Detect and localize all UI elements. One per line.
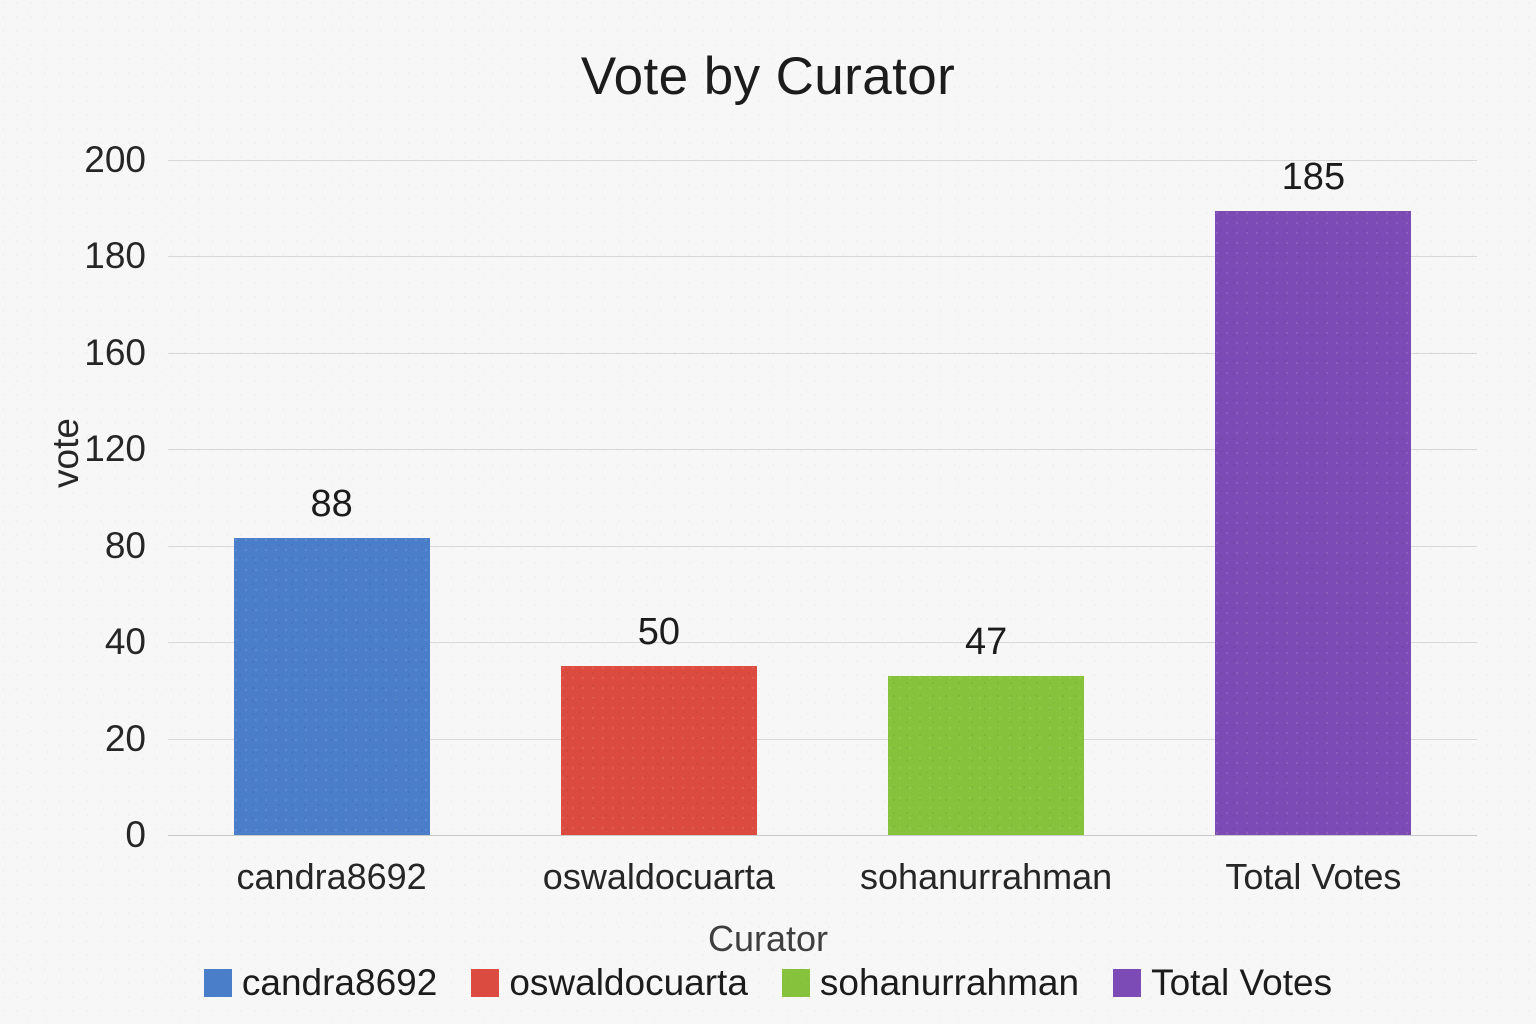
legend-swatch-icon [1113,969,1141,997]
legend-item[interactable]: candra8692 [204,962,437,1004]
bar-chart: Vote by Curator vote 2001801601208040200… [0,0,1536,1024]
legend-item[interactable]: sohanurrahman [782,962,1079,1004]
chart-title: Vote by Curator [0,46,1536,107]
x-tick-label: Total Votes [1225,856,1401,898]
y-tick-label: 160 [26,332,146,374]
bar-value-label: 88 [310,483,352,526]
x-tick-label: oswaldocuarta [543,856,775,898]
legend-label: sohanurrahman [820,962,1079,1004]
legend-item[interactable]: Total Votes [1113,962,1332,1004]
bar-fill-texture [888,676,1084,835]
gridline [168,160,1477,161]
y-tick-label: 0 [26,814,146,856]
bar-fill-texture [1215,211,1411,835]
y-tick-label: 180 [26,235,146,277]
chart-legend: candra8692oswaldocuartasohanurrahmanTota… [0,962,1536,1004]
bar[interactable]: 47 [888,676,1084,835]
x-tick-label: candra8692 [237,856,427,898]
plot-area: 885047185 [168,160,1477,835]
legend-item[interactable]: oswaldocuarta [471,962,748,1004]
bar-value-label: 47 [965,621,1007,664]
bar-fill-texture [561,666,757,835]
legend-label: oswaldocuarta [509,962,748,1004]
bar-fill-texture [234,538,430,835]
bar[interactable]: 88 [234,538,430,835]
y-tick-label: 200 [26,139,146,181]
legend-label: candra8692 [242,962,437,1004]
x-axis-title: Curator [0,918,1536,960]
legend-swatch-icon [782,969,810,997]
y-tick-label: 40 [26,621,146,663]
gridline [168,835,1477,836]
bar-value-label: 50 [638,611,680,654]
y-tick-label: 80 [26,525,146,567]
y-tick-label: 120 [26,428,146,470]
bar[interactable]: 50 [561,666,757,835]
legend-swatch-icon [471,969,499,997]
legend-swatch-icon [204,969,232,997]
bar-value-label: 185 [1282,156,1345,199]
y-tick-label: 20 [26,718,146,760]
legend-label: Total Votes [1151,962,1332,1004]
bar[interactable]: 185 [1215,211,1411,835]
x-tick-label: sohanurrahman [860,856,1112,898]
